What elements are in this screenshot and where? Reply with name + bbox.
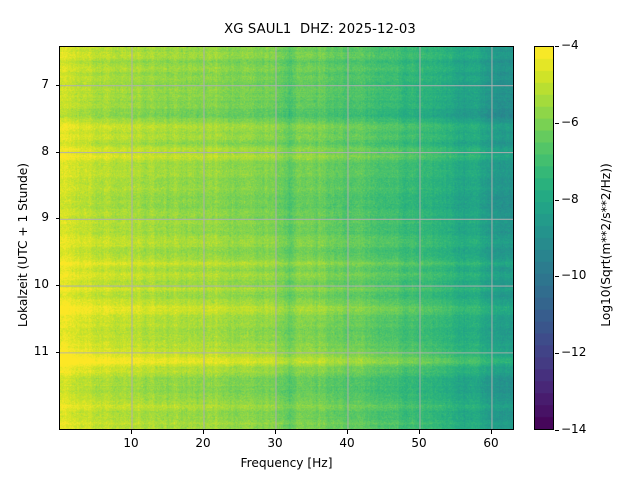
colorbar-tick-mark: [555, 46, 559, 47]
x-tick-label: 50: [399, 436, 439, 450]
colorbar-gradient: [535, 47, 553, 429]
x-tick-label: 60: [471, 436, 511, 450]
colorbar-tick-mark: [555, 430, 559, 431]
chart-title: XG SAUL1 DHZ: 2025-12-03: [0, 22, 640, 37]
colorbar-tick-mark: [555, 200, 559, 201]
y-tick-mark: [56, 218, 60, 219]
colorbar-tick-label: −8: [561, 192, 579, 206]
y-axis-label: Lokalzeit (UTC + 1 Stunde): [16, 140, 30, 350]
figure-canvas: XG SAUL1 DHZ: 2025-12-03 102030405060 78…: [0, 0, 640, 480]
y-tick-mark: [56, 85, 60, 86]
spectrogram-image: [60, 47, 514, 430]
x-tick-mark: [275, 430, 276, 434]
x-tick-label: 20: [183, 436, 223, 450]
colorbar-tick-label: −4: [561, 38, 579, 52]
x-tick-mark: [131, 430, 132, 434]
spectrogram-axes: [59, 46, 514, 430]
x-tick-mark: [203, 430, 204, 434]
colorbar-tick-label: −14: [561, 422, 586, 436]
colorbar-tick-mark: [555, 276, 559, 277]
colorbar-label: Log10(Sqrt(m**2/s**2/Hz)): [599, 140, 613, 350]
colorbar-tick-label: −12: [561, 345, 586, 359]
y-tick-label: 7: [0, 77, 49, 91]
y-tick-mark: [56, 285, 60, 286]
colorbar-tick-mark: [555, 123, 559, 124]
y-tick-mark: [56, 352, 60, 353]
x-tick-mark: [491, 430, 492, 434]
x-tick-label: 30: [255, 436, 295, 450]
x-tick-mark: [347, 430, 348, 434]
y-tick-mark: [56, 152, 60, 153]
colorbar-tick-mark: [555, 353, 559, 354]
x-tick-label: 10: [111, 436, 151, 450]
x-tick-mark: [419, 430, 420, 434]
colorbar-tick-label: −10: [561, 268, 586, 282]
x-tick-label: 40: [327, 436, 367, 450]
colorbar-tick-label: −6: [561, 115, 579, 129]
colorbar: [534, 46, 554, 430]
x-axis-label: Frequency [Hz]: [59, 456, 514, 470]
